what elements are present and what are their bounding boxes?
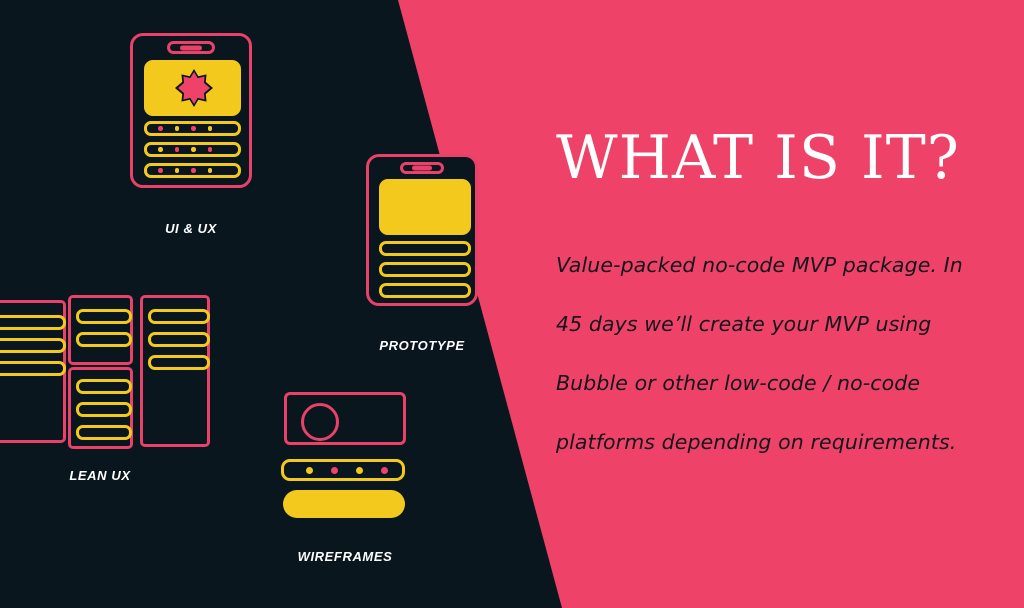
lean-ux-card	[0, 300, 66, 443]
bar-dot	[208, 168, 213, 173]
caption-wireframes: WIREFRAMES	[278, 549, 412, 564]
notch-speaker-icon	[412, 166, 432, 171]
bar-dot	[191, 168, 196, 173]
bar-dot	[191, 147, 196, 152]
notch-speaker-icon	[180, 45, 202, 50]
content-bar	[379, 241, 471, 256]
content-bar	[76, 379, 132, 394]
bar-dot	[158, 126, 163, 131]
wireframe-circle-icon	[301, 403, 339, 441]
bar-dot	[356, 467, 363, 474]
content-bar	[148, 355, 210, 370]
bar-dot	[381, 467, 388, 474]
illustration-prototype: PROTOTYPE	[366, 154, 478, 353]
content-bar	[144, 163, 241, 178]
content-bar	[76, 425, 132, 440]
content-bar	[379, 262, 471, 277]
phone-mockup-prototype	[366, 154, 478, 306]
body-line: platforms depending on requirements.	[556, 413, 996, 472]
bar-dot	[158, 168, 163, 173]
bar-dot	[175, 147, 180, 152]
caption-ui-ux: UI & UX	[130, 221, 252, 236]
bar-dot	[208, 126, 213, 131]
phone-notch-icon	[400, 162, 444, 174]
body-line: Bubble or other low-code / no-code	[556, 354, 996, 413]
body-line: Value-packed no-code MVP package. In	[556, 236, 996, 295]
lean-ux-card	[68, 367, 133, 449]
wireframe-dot-bar	[281, 459, 405, 481]
text-panel: WHAT IS IT? Value-packed no-code MVP pac…	[556, 128, 996, 472]
body-copy: Value-packed no-code MVP package. In 45 …	[556, 236, 996, 472]
lean-ux-card	[140, 295, 210, 447]
phone-screen-hero	[144, 60, 241, 116]
bar-dot	[175, 168, 180, 173]
bar-dot	[158, 147, 163, 152]
wireframe-solid-bar	[283, 490, 405, 518]
wireframe-image-placeholder	[284, 392, 406, 445]
lean-ux-card	[68, 295, 133, 365]
bar-dot	[306, 467, 313, 474]
content-bar	[379, 283, 471, 298]
content-bar	[76, 332, 132, 347]
content-bar	[148, 309, 210, 324]
content-bar	[144, 121, 241, 136]
page-title: WHAT IS IT?	[556, 128, 996, 188]
phone-notch-icon	[167, 41, 215, 54]
caption-lean-ux: LEAN UX	[40, 468, 160, 483]
content-bar	[0, 361, 66, 376]
slide-canvas: UI & UX PROTOTYPE	[0, 0, 1024, 608]
bar-dot	[331, 467, 338, 474]
content-bar	[148, 332, 210, 347]
content-bar	[76, 309, 132, 324]
bar-dot	[191, 126, 196, 131]
phone-mockup-ui-ux	[130, 33, 252, 188]
content-bar	[0, 315, 66, 330]
body-line: 45 days we’ll create your MVP using	[556, 295, 996, 354]
content-bar	[144, 142, 241, 157]
bar-dot	[175, 126, 180, 131]
illustration-ui-ux: UI & UX	[130, 33, 252, 236]
phone-screen-hero	[379, 179, 471, 235]
bar-dot	[208, 147, 213, 152]
content-bar	[76, 402, 132, 417]
caption-prototype: PROTOTYPE	[366, 338, 478, 353]
content-bar	[0, 338, 66, 353]
